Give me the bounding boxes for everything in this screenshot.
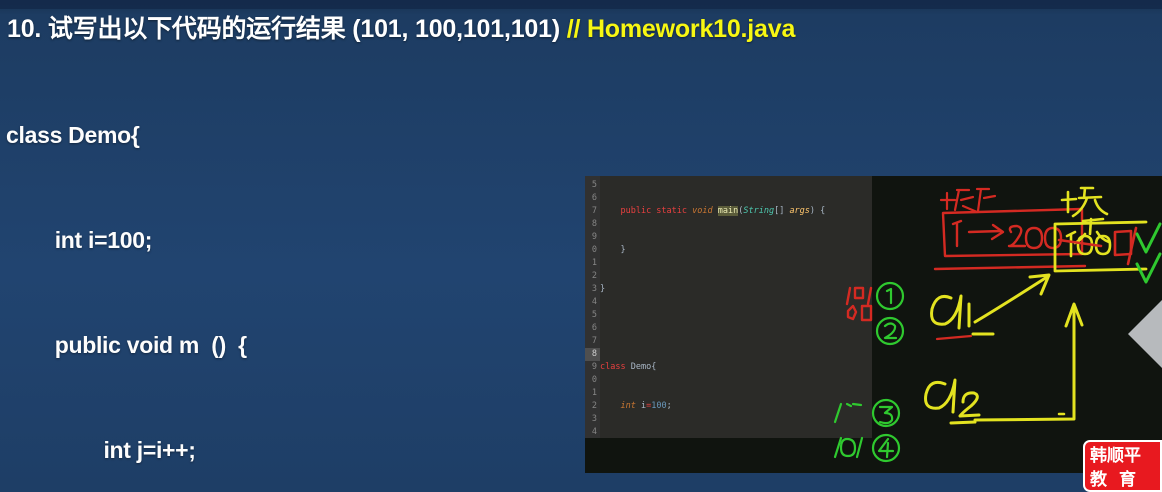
code-line: int i=100; [6,223,452,258]
watermark-line-1: 韩顺平 [1090,444,1160,468]
code-line: class Demo{ [6,118,452,153]
watermark-badge: 韩顺平 教育 [1083,440,1162,492]
slide-top-strip [0,0,1162,9]
play-triangle-icon[interactable] [1128,300,1162,368]
embedded-video-panel[interactable]: 5 6 7 8 9 0 1 2 3 4 5 6 7 8 9 0 1 2 3 4 [585,176,1162,473]
file-comment-label: // Homework10.java [567,15,795,43]
watermark-char-jiao: 教 [1090,470,1107,490]
code-line: int j=i++; [6,433,452,468]
watermark-char-yu: 育 [1119,470,1136,490]
handwritten-annotation-layer [585,176,1162,473]
slide-code-block: class Demo{ int i=100; public void m () … [6,48,452,492]
code-line: public void m () { [6,328,452,363]
question-text-chinese: 试写出以下代码的运行结果 [48,14,346,43]
presentation-slide: 10. 试写出以下代码的运行结果 (101, 100,101,101) // H… [0,0,1162,492]
page-title: 10. 试写出以下代码的运行结果 (101, 100,101,101) // H… [7,16,795,42]
question-number: 10. [7,15,41,43]
watermark-line-2: 教育 [1090,468,1160,492]
question-answer: (101, 100,101,101) [352,15,560,43]
